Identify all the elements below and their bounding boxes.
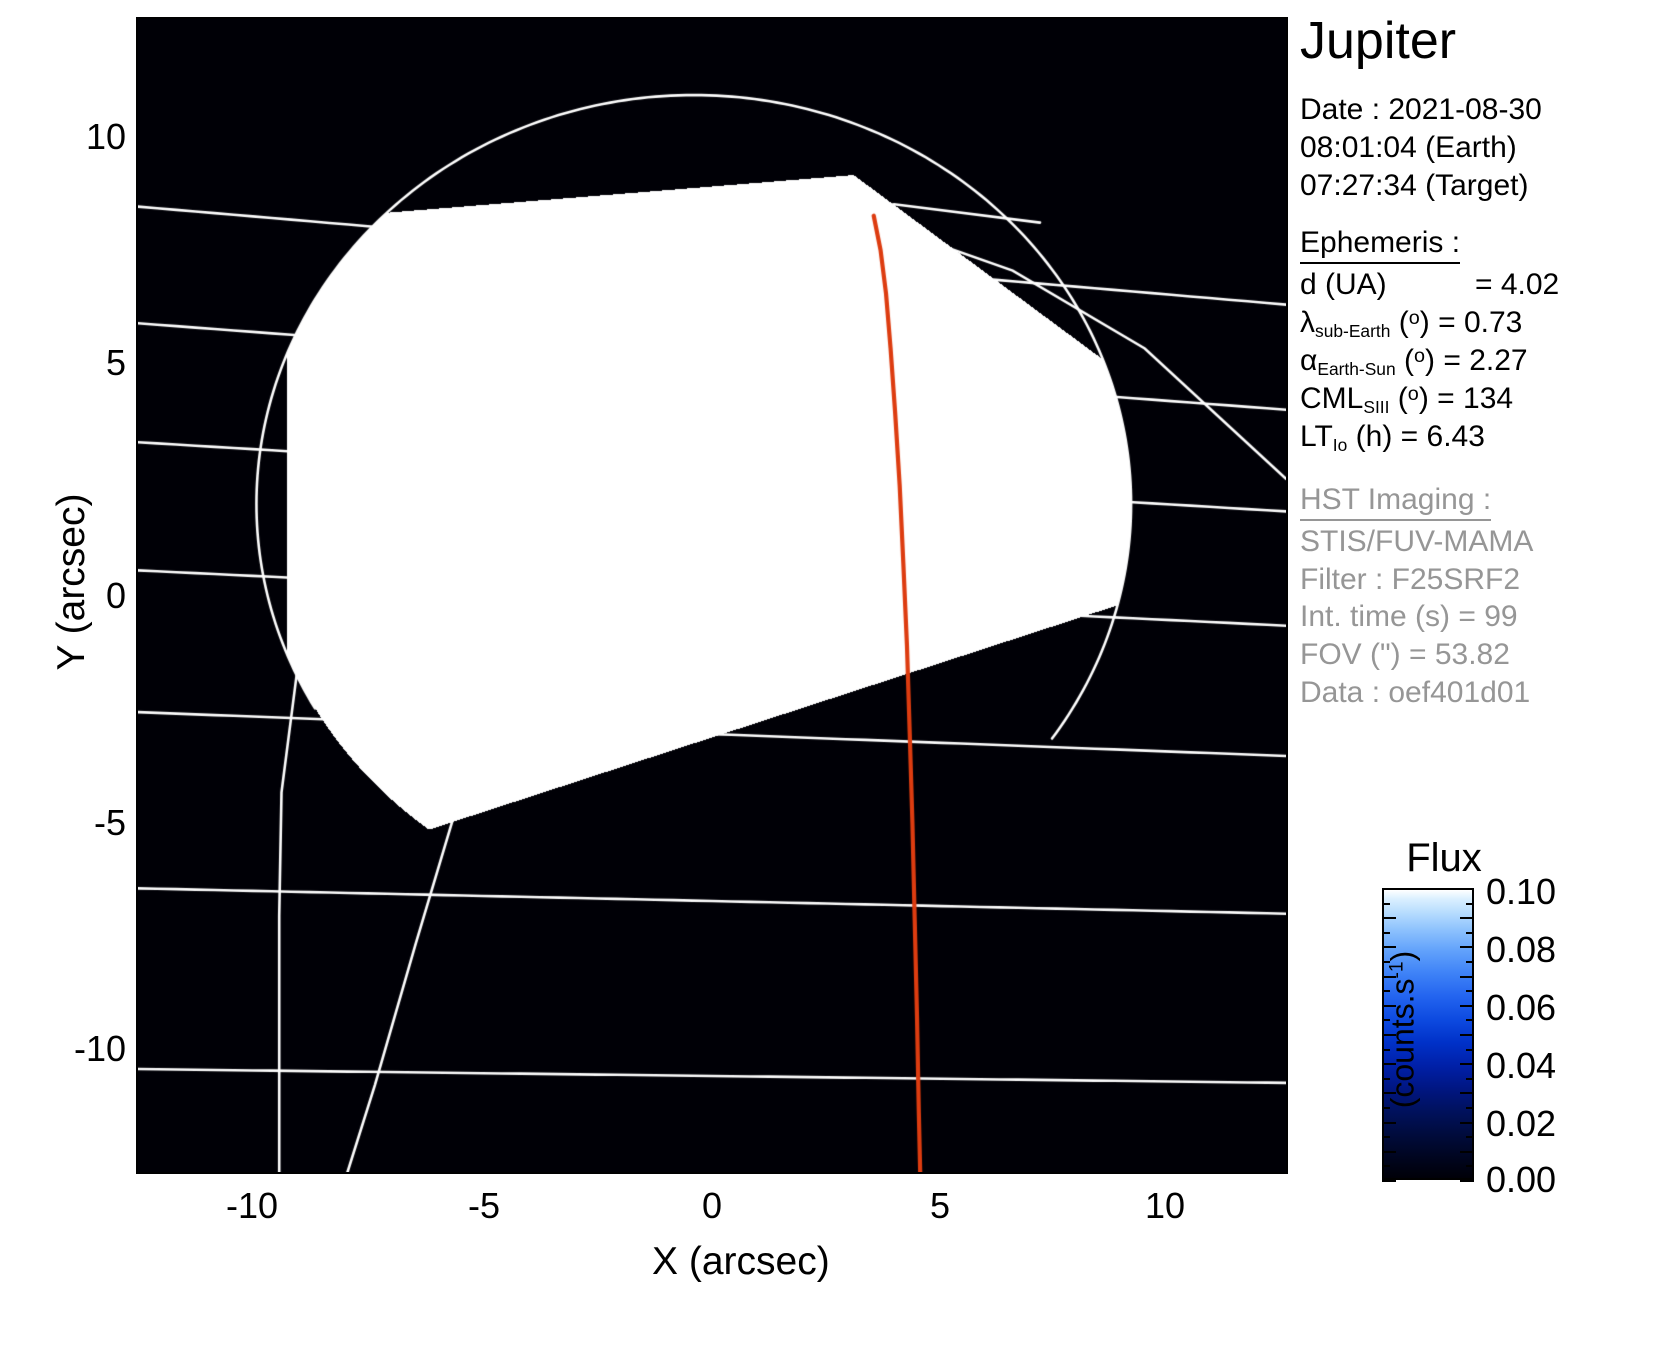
colorbar-tick-mark xyxy=(1466,990,1474,992)
sub-earth-value: = 0.73 xyxy=(1438,306,1522,339)
y-tick-label-5: 5 xyxy=(0,345,126,381)
ephemeris-sub-earth-row: λsub-Earth (o) = 0.73 xyxy=(1300,304,1676,342)
lambda-symbol: λ xyxy=(1300,306,1315,339)
colorbar-tick-000: 0.00 xyxy=(1486,1162,1556,1198)
colorbar-tick-mark xyxy=(1382,1092,1396,1094)
colorbar-tick-mark xyxy=(1382,1049,1390,1051)
colorbar-tick-mark xyxy=(1382,888,1396,890)
cml-unit: (o) xyxy=(1398,382,1429,415)
ephemeris-lt-row: LTIo (h) = 6.43 xyxy=(1300,418,1676,456)
colorbar-tick-mark xyxy=(1382,1122,1396,1124)
phase-value: = 2.27 xyxy=(1443,344,1527,377)
colorbar-tick-mark xyxy=(1460,946,1474,948)
instrument-int-time: Int. time (s) = 99 xyxy=(1300,598,1676,636)
colorbar-tick-mark xyxy=(1460,1151,1474,1153)
y-tick-label-neg10: -10 xyxy=(0,1031,126,1067)
colorbar-tick-mark xyxy=(1460,1063,1474,1065)
colorbar-tick-mark xyxy=(1382,917,1396,919)
x-tick-label-0: 0 xyxy=(652,1185,772,1227)
lt-subscript: Io xyxy=(1333,435,1348,455)
colorbar-tick-mark xyxy=(1382,1136,1390,1138)
y-tick-label-10: 10 xyxy=(0,119,126,155)
colorbar-tick-mark xyxy=(1382,903,1390,905)
y-tick-label-neg5: -5 xyxy=(0,805,126,841)
y-axis-title: Y (arcsec) xyxy=(50,432,94,732)
cml-value: = 134 xyxy=(1437,382,1513,415)
colorbar-tick-006: 0.06 xyxy=(1486,990,1556,1026)
colorbar-tick-mark xyxy=(1460,1034,1474,1036)
ephemeris-heading: Ephemeris : xyxy=(1300,225,1460,264)
colorbar-tick-mark xyxy=(1382,1078,1390,1080)
colorbar-tick-002: 0.02 xyxy=(1486,1106,1556,1142)
lt-value: = 6.43 xyxy=(1401,420,1485,453)
colorbar-tick-010: 0.10 xyxy=(1486,874,1556,910)
colorbar-tick-mark xyxy=(1382,1019,1390,1021)
colorbar-tick-mark xyxy=(1460,917,1474,919)
aurora-heatmap-canvas xyxy=(138,19,1286,1172)
phase-subscript: Earth-Sun xyxy=(1317,359,1395,379)
instrument-filter: Filter : F25SRF2 xyxy=(1300,561,1676,599)
colorbar-tick-mark xyxy=(1460,1005,1474,1007)
ephemeris-block: Ephemeris : d (UA)= 4.02 λsub-Earth (o) … xyxy=(1300,225,1676,456)
colorbar-tick-mark xyxy=(1382,976,1396,978)
lt-unit: (h) xyxy=(1356,420,1393,453)
observation-time-target: 07:27:34 (Target) xyxy=(1300,167,1676,205)
colorbar-tick-mark xyxy=(1466,903,1474,905)
x-axis-title: X (arcsec) xyxy=(652,1240,830,1284)
colorbar-tick-mark xyxy=(1382,961,1390,963)
x-tick-label-10: 10 xyxy=(1105,1185,1225,1227)
instrument-fov: FOV (") = 53.82 xyxy=(1300,636,1676,674)
instrument-heading: HST Imaging : xyxy=(1300,482,1491,521)
colorbar-tick-mark xyxy=(1460,1122,1474,1124)
colorbar-tick-mark xyxy=(1382,1034,1396,1036)
instrument-dataset: Data : oef401d01 xyxy=(1300,674,1676,712)
colorbar-tick-mark xyxy=(1466,1165,1474,1167)
colorbar-tick-mark xyxy=(1460,976,1474,978)
colorbar-tick-mark xyxy=(1382,1151,1396,1153)
cml-label: CML xyxy=(1300,382,1363,415)
colorbar-tick-mark xyxy=(1382,946,1396,948)
ephemeris-distance-label: d (UA) xyxy=(1300,266,1475,304)
sub-earth-subscript: sub-Earth xyxy=(1315,321,1390,341)
colorbar: Flux (counts.s-1) 0.10 0.08 0.06 0.04 0.… xyxy=(1346,836,1676,1356)
ephemeris-cml-row: CMLSIII (o) = 134 xyxy=(1300,380,1676,418)
ephemeris-distance-row: d (UA)= 4.02 xyxy=(1300,266,1676,304)
colorbar-tick-mark xyxy=(1460,888,1474,890)
colorbar-unit-label: (counts.s-1) xyxy=(1385,885,1422,1175)
colorbar-tick-mark xyxy=(1460,1092,1474,1094)
sub-earth-unit: (o) xyxy=(1399,306,1430,339)
instrument-detector: STIS/FUV-MAMA xyxy=(1300,523,1676,561)
colorbar-tick-mark xyxy=(1382,1107,1390,1109)
observation-date: Date : 2021-08-30 xyxy=(1300,91,1676,129)
instrument-block: HST Imaging : STIS/FUV-MAMA Filter : F25… xyxy=(1300,482,1676,713)
colorbar-tick-mark xyxy=(1382,1005,1396,1007)
x-tick-label-neg10: -10 xyxy=(192,1185,312,1227)
colorbar-tick-mark xyxy=(1466,1107,1474,1109)
colorbar-tick-mark xyxy=(1382,1180,1396,1182)
observation-time-earth: 08:01:04 (Earth) xyxy=(1300,129,1676,167)
lt-label: LT xyxy=(1300,420,1333,453)
alpha-symbol: α xyxy=(1300,344,1317,377)
info-panel: Jupiter Date : 2021-08-30 08:01:04 (Eart… xyxy=(1300,14,1676,712)
colorbar-tick-mark xyxy=(1382,1165,1390,1167)
target-title: Jupiter xyxy=(1300,14,1676,69)
colorbar-tick-mark xyxy=(1466,932,1474,934)
ephemeris-phase-row: αEarth-Sun (o) = 2.27 xyxy=(1300,342,1676,380)
observation-block: Date : 2021-08-30 08:01:04 (Earth) 07:27… xyxy=(1300,91,1676,205)
x-tick-label-5: 5 xyxy=(880,1185,1000,1227)
colorbar-tick-mark xyxy=(1382,1063,1396,1065)
x-tick-label-neg5: -5 xyxy=(424,1185,544,1227)
colorbar-tick-mark xyxy=(1466,961,1474,963)
cml-subscript: SIII xyxy=(1363,397,1389,417)
colorbar-tick-mark xyxy=(1466,1049,1474,1051)
colorbar-tick-004: 0.04 xyxy=(1486,1048,1556,1084)
colorbar-tick-mark xyxy=(1466,1078,1474,1080)
colorbar-tick-mark xyxy=(1466,1136,1474,1138)
colorbar-tick-mark xyxy=(1382,932,1390,934)
colorbar-tick-mark xyxy=(1382,990,1390,992)
phase-unit: (o) xyxy=(1404,344,1435,377)
colorbar-tick-mark xyxy=(1460,1180,1474,1182)
ephemeris-distance-value: = 4.02 xyxy=(1475,268,1559,301)
colorbar-tick-008: 0.08 xyxy=(1486,932,1556,968)
colorbar-tick-mark xyxy=(1466,1019,1474,1021)
aurora-image-plot xyxy=(138,19,1286,1172)
